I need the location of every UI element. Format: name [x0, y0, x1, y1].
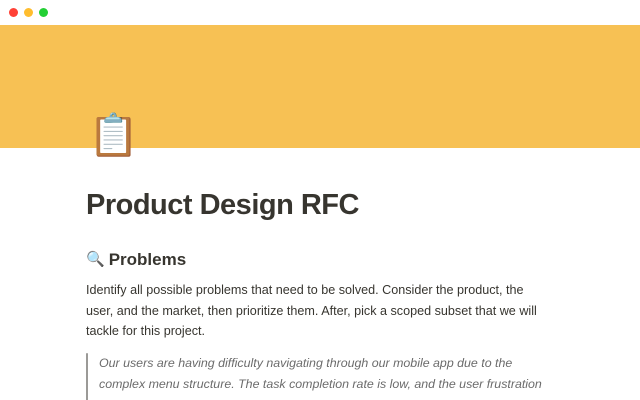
window-titlebar [0, 0, 640, 25]
document-content: Product Design RFC 🔍 Problems Identify a… [86, 148, 558, 400]
page-title[interactable]: Product Design RFC [86, 148, 558, 223]
quote-block[interactable]: Our users are having difficulty navigati… [86, 342, 558, 400]
quote-text: Our users are having difficulty navigati… [99, 353, 551, 400]
window-maximize-button[interactable] [39, 8, 48, 17]
quote-left-bar [86, 353, 88, 400]
document-page: 📋 Product Design RFC 🔍 Problems Identify… [0, 148, 640, 400]
app-window: 📋 Product Design RFC 🔍 Problems Identify… [0, 0, 640, 400]
window-close-button[interactable] [9, 8, 18, 17]
paragraph-block[interactable]: Identify all possible problems that need… [86, 271, 544, 342]
window-minimize-button[interactable] [24, 8, 33, 17]
section-heading-problems[interactable]: 🔍 Problems [86, 223, 558, 271]
magnifying-glass-emoji-icon: 🔍 [86, 252, 105, 267]
section-heading-label: Problems [109, 249, 186, 271]
traffic-light-controls [9, 8, 48, 17]
